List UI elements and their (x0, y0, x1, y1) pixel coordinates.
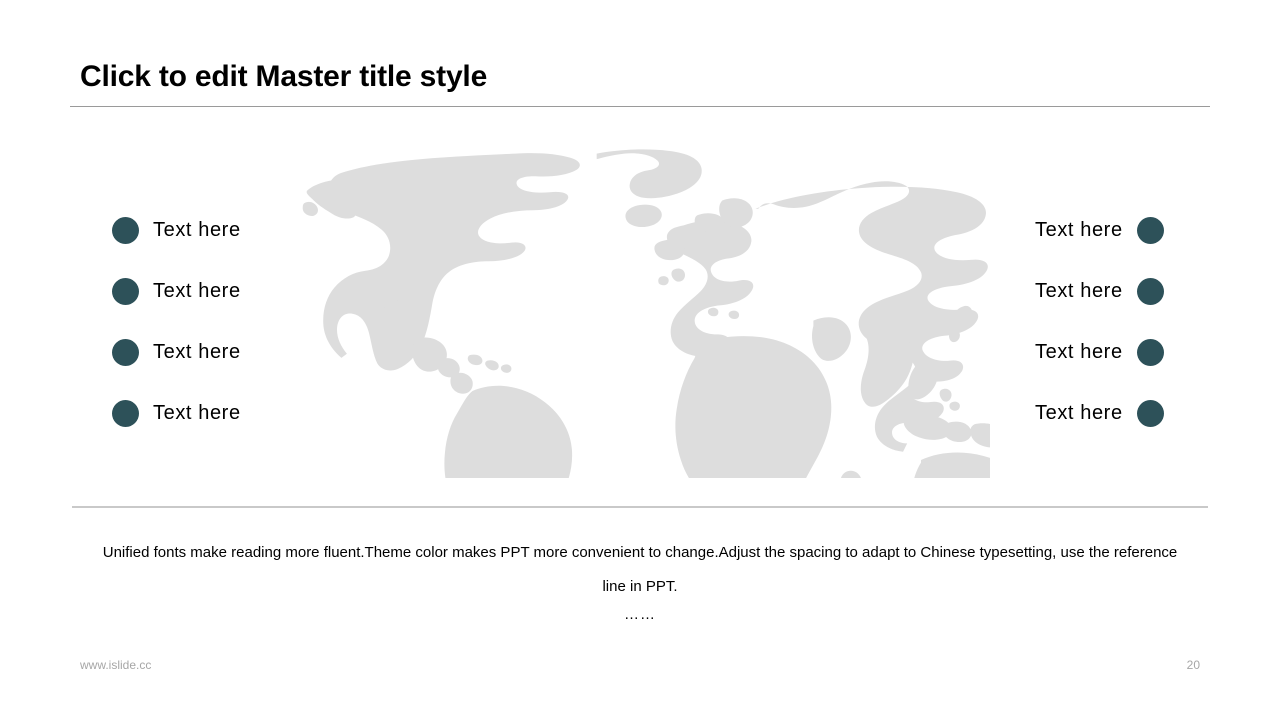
bullet-label: Text here (153, 341, 241, 364)
bullet-list-left: Text here Text here Text here Text here (112, 200, 241, 444)
bullet-item-left-3[interactable]: Text here (112, 322, 241, 383)
bullet-dot-icon (112, 217, 139, 244)
body-ellipsis: …… (90, 606, 1190, 623)
bullet-label: Text here (1035, 402, 1123, 425)
world-map-graphic (300, 148, 990, 478)
bullet-dot-icon (112, 339, 139, 366)
bullet-item-right-4[interactable]: Text here (1035, 383, 1164, 444)
bullet-label: Text here (1035, 341, 1123, 364)
bullet-dot-icon (112, 400, 139, 427)
bullet-label: Text here (1035, 219, 1123, 242)
bullet-dot-icon (112, 278, 139, 305)
page-title: Click to edit Master title style (80, 60, 487, 94)
bullet-dot-icon (1137, 339, 1164, 366)
bullet-list-right: Text here Text here Text here Text here (1035, 200, 1164, 444)
bullet-item-right-3[interactable]: Text here (1035, 322, 1164, 383)
footer-url[interactable]: www.islide.cc (80, 658, 151, 672)
page-number: 20 (1187, 658, 1200, 672)
bullet-dot-icon (1137, 217, 1164, 244)
bullet-dot-icon (1137, 400, 1164, 427)
bullet-item-left-1[interactable]: Text here (112, 200, 241, 261)
title-divider (70, 106, 1210, 107)
bullet-item-right-2[interactable]: Text here (1035, 261, 1164, 322)
bullet-label: Text here (153, 219, 241, 242)
bullet-dot-icon (1137, 278, 1164, 305)
bullet-label: Text here (153, 280, 241, 303)
bullet-label: Text here (153, 402, 241, 425)
bullet-item-left-4[interactable]: Text here (112, 383, 241, 444)
bullet-item-right-1[interactable]: Text here (1035, 200, 1164, 261)
bullet-label: Text here (1035, 280, 1123, 303)
body-paragraph: Unified fonts make reading more fluent.T… (90, 536, 1190, 604)
body-divider (72, 506, 1208, 508)
bullet-item-left-2[interactable]: Text here (112, 261, 241, 322)
